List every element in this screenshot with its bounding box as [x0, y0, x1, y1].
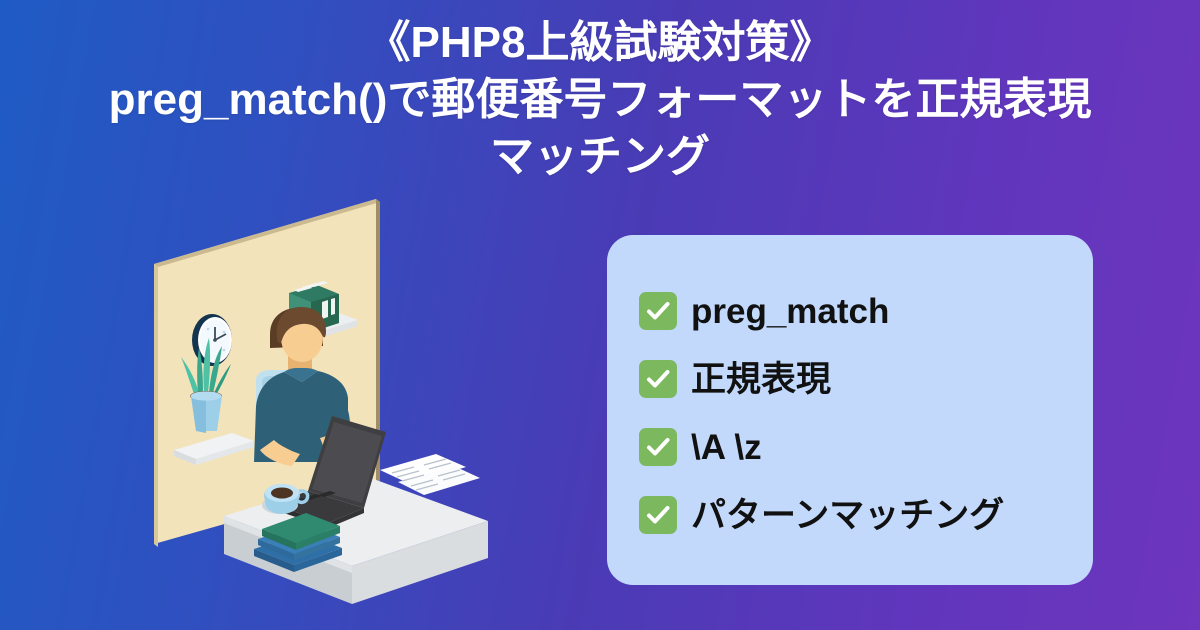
feature-label: preg_match	[691, 294, 889, 329]
title-line-2: preg_match()で郵便番号フォーマットを正規表現	[0, 71, 1200, 128]
title-line-3: マッチング	[0, 128, 1200, 185]
list-item: \A \z	[639, 422, 1063, 472]
feature-label: 正規表現	[691, 362, 831, 397]
isometric-developer-illustration	[136, 186, 516, 606]
check-mark-button-icon	[639, 360, 677, 398]
check-mark-button-icon	[639, 292, 677, 330]
feature-list-card: preg_match 正規表現 \A \z パターンマッチング	[607, 235, 1093, 585]
feature-label: \A \z	[691, 430, 762, 465]
check-mark-button-icon	[639, 496, 677, 534]
page-title: 《PHP8上級試験対策》 preg_match()で郵便番号フォーマットを正規表…	[0, 14, 1200, 186]
list-item: 正規表現	[639, 354, 1063, 404]
title-line-1: 《PHP8上級試験対策》	[0, 14, 1200, 71]
slide-canvas: 《PHP8上級試験対策》 preg_match()で郵便番号フォーマットを正規表…	[0, 0, 1200, 630]
feature-label: パターンマッチング	[691, 498, 1004, 533]
list-item: パターンマッチング	[639, 490, 1063, 540]
check-mark-button-icon	[639, 428, 677, 466]
list-item: preg_match	[639, 286, 1063, 336]
